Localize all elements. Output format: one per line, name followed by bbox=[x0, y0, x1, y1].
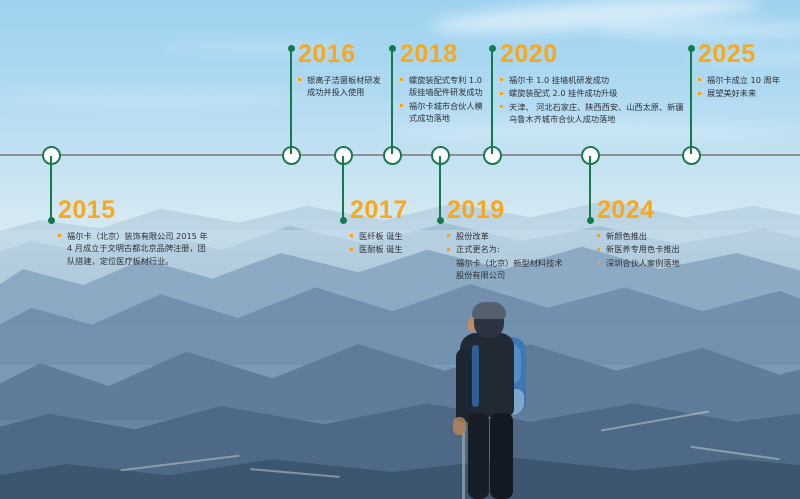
timeline-connector-2025 bbox=[690, 50, 693, 154]
timeline-bullet-list: 医纤板 诞生医耐板 诞生 bbox=[350, 230, 408, 256]
timeline-connector-tip-2019 bbox=[437, 217, 444, 224]
timeline-connector-tip-2016 bbox=[288, 45, 295, 52]
timeline-connector-tip-2024 bbox=[587, 217, 594, 224]
timeline-year-label: 2017 bbox=[350, 198, 408, 223]
timeline-bullet: 医耐板 诞生 bbox=[350, 243, 408, 255]
timeline-year-label: 2025 bbox=[698, 42, 780, 67]
timeline-year-label: 2020 bbox=[500, 42, 684, 67]
timeline-year-label: 2015 bbox=[58, 198, 208, 223]
timeline-bullet: 福尔卡（北京）新型材料技术 股份有限公司 bbox=[447, 257, 562, 282]
timeline-entry-2020[interactable]: 2020福尔卡 1.0 挂墙机研发成功螺旋装配式 2.0 挂件成功升级天津、 河… bbox=[500, 42, 684, 127]
timeline-entry-2025[interactable]: 2025福尔卡成立 10 周年展望美好未来 bbox=[698, 42, 780, 101]
timeline-year-label: 2019 bbox=[447, 198, 562, 223]
timeline-connector-tip-2015 bbox=[48, 217, 55, 224]
timeline-entry-2016[interactable]: 2016银离子洁菌板材研发 成功并投入使用 bbox=[298, 42, 381, 100]
timeline-bullet: 深圳合伙人案例落地 bbox=[597, 257, 680, 269]
timeline-bullet: 螺旋装配式专利 1.0 版挂墙配件研发成功 bbox=[400, 74, 483, 99]
timeline-connector-tip-2020 bbox=[489, 45, 496, 52]
timeline-bullet-list: 福尔卡成立 10 周年展望美好未来 bbox=[698, 74, 780, 100]
timeline-bullet: 股份改革 bbox=[447, 230, 562, 242]
timeline-bullet: 展望美好未来 bbox=[698, 87, 780, 99]
timeline-bullet: 福尔卡 1.0 挂墙机研发成功 bbox=[500, 74, 684, 86]
timeline-connector-2015 bbox=[50, 156, 53, 218]
timeline-connector-2020 bbox=[491, 50, 494, 154]
timeline-entry-2017[interactable]: 2017医纤板 诞生医耐板 诞生 bbox=[350, 198, 408, 257]
timeline-bullet-list: 螺旋装配式专利 1.0 版挂墙配件研发成功福尔卡城市合伙人模 式成功落地 bbox=[400, 74, 483, 125]
timeline-connector-2024 bbox=[589, 156, 592, 218]
timeline-year-label: 2016 bbox=[298, 42, 381, 67]
timeline-entry-2024[interactable]: 2024新颜色推出新医养专用色卡推出深圳合伙人案例落地 bbox=[597, 198, 680, 270]
timeline-entry-2015[interactable]: 2015福尔卡（北京）装饰有限公司 2015 年 4 月成立于文明古都北京品牌注… bbox=[58, 198, 208, 268]
timeline-bullet: 螺旋装配式 2.0 挂件成功升级 bbox=[500, 87, 684, 99]
timeline-entry-2019[interactable]: 2019股份改革正式更名为:福尔卡（北京）新型材料技术 股份有限公司 bbox=[447, 198, 562, 283]
timeline-bullet: 新医养专用色卡推出 bbox=[597, 243, 680, 255]
timeline-bullet: 银离子洁菌板材研发 成功并投入使用 bbox=[298, 74, 381, 99]
timeline-bullet: 福尔卡（北京）装饰有限公司 2015 年 4 月成立于文明古都北京品牌注册，团 … bbox=[58, 230, 208, 267]
timeline: 2015福尔卡（北京）装饰有限公司 2015 年 4 月成立于文明古都北京品牌注… bbox=[0, 0, 800, 499]
timeline-bullet: 新颜色推出 bbox=[597, 230, 680, 242]
timeline-year-label: 2018 bbox=[400, 42, 483, 67]
timeline-connector-tip-2017 bbox=[340, 217, 347, 224]
timeline-connector-2019 bbox=[439, 156, 442, 218]
timeline-bullet: 福尔卡城市合伙人模 式成功落地 bbox=[400, 100, 483, 125]
timeline-bullet: 天津、 河北石家庄、陕西西安、山西太原、新疆 乌鲁木齐城市合伙人成功落地 bbox=[500, 101, 684, 126]
timeline-entry-2018[interactable]: 2018螺旋装配式专利 1.0 版挂墙配件研发成功福尔卡城市合伙人模 式成功落地 bbox=[400, 42, 483, 126]
timeline-bullet: 医纤板 诞生 bbox=[350, 230, 408, 242]
timeline-bullet-list: 股份改革正式更名为:福尔卡（北京）新型材料技术 股份有限公司 bbox=[447, 230, 562, 282]
timeline-connector-2016 bbox=[290, 50, 293, 154]
timeline-bullet-list: 银离子洁菌板材研发 成功并投入使用 bbox=[298, 74, 381, 99]
timeline-connector-2017 bbox=[342, 156, 345, 218]
timeline-bullet-list: 新颜色推出新医养专用色卡推出深圳合伙人案例落地 bbox=[597, 230, 680, 269]
timeline-bullet: 福尔卡成立 10 周年 bbox=[698, 74, 780, 86]
timeline-bullet-list: 福尔卡 1.0 挂墙机研发成功螺旋装配式 2.0 挂件成功升级天津、 河北石家庄… bbox=[500, 74, 684, 126]
timeline-connector-tip-2018 bbox=[389, 45, 396, 52]
timeline-bullet-list: 福尔卡（北京）装饰有限公司 2015 年 4 月成立于文明古都北京品牌注册，团 … bbox=[58, 230, 208, 267]
timeline-connector-tip-2025 bbox=[688, 45, 695, 52]
timeline-year-label: 2024 bbox=[597, 198, 680, 223]
timeline-connector-2018 bbox=[391, 50, 394, 154]
timeline-bullet: 正式更名为: bbox=[447, 243, 562, 255]
